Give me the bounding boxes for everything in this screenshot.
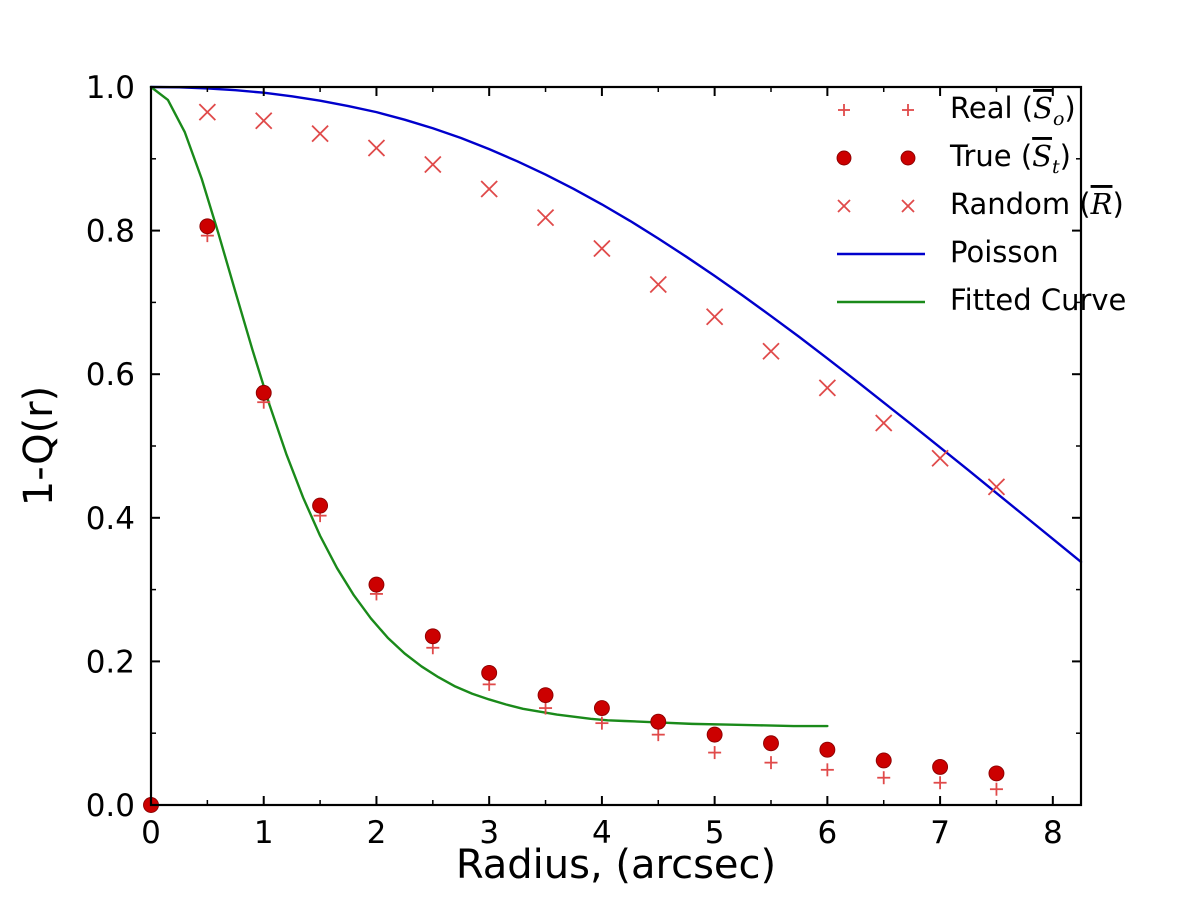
- data-point-true: [989, 766, 1004, 781]
- data-point-true: [594, 701, 609, 716]
- legend-marker-true: [901, 151, 915, 165]
- legend-label-poisson: Poisson: [950, 235, 1059, 269]
- chart-figure: 0123456780.00.20.40.60.81.0 Radius, (arc…: [0, 0, 1200, 898]
- figure-background: [0, 0, 1200, 898]
- x-tick-label: 0: [141, 815, 161, 851]
- y-tick-label: 0.0: [86, 788, 135, 824]
- y-axis-title: 1-Q(r): [16, 386, 62, 507]
- data-point-true: [538, 688, 553, 703]
- legend-marker-true: [837, 151, 851, 165]
- y-tick-label: 1.0: [86, 70, 135, 106]
- y-tick-label: 0.8: [86, 214, 135, 250]
- legend-label-random-r-: Random (R): [950, 187, 1124, 221]
- x-tick-label: 7: [930, 815, 950, 851]
- data-point-true: [820, 742, 835, 757]
- data-point-true: [876, 753, 891, 768]
- data-point-true: [707, 727, 722, 742]
- data-point-true: [313, 498, 328, 513]
- data-point-true: [256, 385, 271, 400]
- y-tick-label: 0.2: [86, 644, 135, 680]
- x-axis-title: Radius, (arcsec): [456, 842, 776, 888]
- data-point-true: [482, 665, 497, 680]
- data-point-true: [764, 736, 779, 751]
- x-tick-label: 8: [1043, 815, 1063, 851]
- legend-label-fitted-curve: Fitted Curve: [950, 283, 1126, 317]
- data-point-true: [933, 759, 948, 774]
- y-tick-label: 0.4: [86, 501, 135, 537]
- plot-canvas: 0123456780.00.20.40.60.81.0 Radius, (arc…: [0, 0, 1200, 898]
- x-tick-label: 6: [817, 815, 837, 851]
- data-point-true: [200, 219, 215, 234]
- data-point-true: [369, 577, 384, 592]
- x-tick-label: 1: [254, 815, 274, 851]
- data-point-true: [425, 629, 440, 644]
- y-tick-label: 0.6: [86, 357, 135, 393]
- x-tick-label: 2: [367, 815, 387, 851]
- data-point-true: [651, 714, 666, 729]
